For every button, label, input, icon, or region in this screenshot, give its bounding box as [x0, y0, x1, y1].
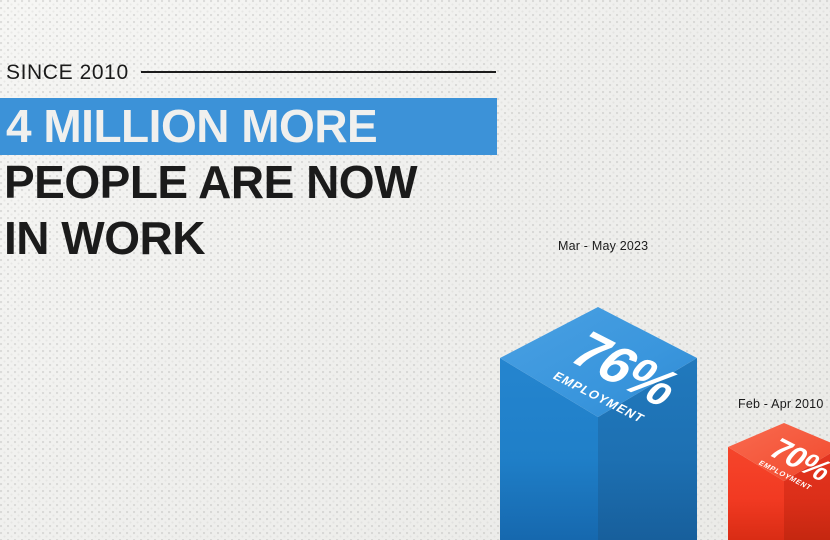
bar-2023-3d-box: 76% EMPLOYMENT	[470, 270, 730, 540]
headline-line-1: 4 MILLION MORE	[6, 103, 377, 149]
headline-line-2: PEOPLE ARE NOW	[4, 159, 417, 205]
bar-2023-date-label: Mar - May 2023	[558, 240, 648, 253]
bar-2010: Feb - Apr 2010	[700, 392, 830, 540]
kicker-text: SINCE 2010	[6, 62, 129, 83]
bar-2023: Mar - May 2023	[470, 230, 730, 540]
headline-highlight-bar: 4 MILLION MORE	[0, 98, 497, 155]
infographic-canvas: SINCE 2010 4 MILLION MORE PEOPLE ARE NOW…	[0, 0, 830, 540]
kicker-divider-rule	[141, 71, 496, 73]
bar-2010-3d-box: 70% EMPLOYMENT	[700, 420, 830, 540]
headline-line-3: IN WORK	[4, 215, 205, 261]
kicker-row: SINCE 2010	[6, 58, 506, 86]
bar-2010-date-label: Feb - Apr 2010	[738, 398, 824, 411]
